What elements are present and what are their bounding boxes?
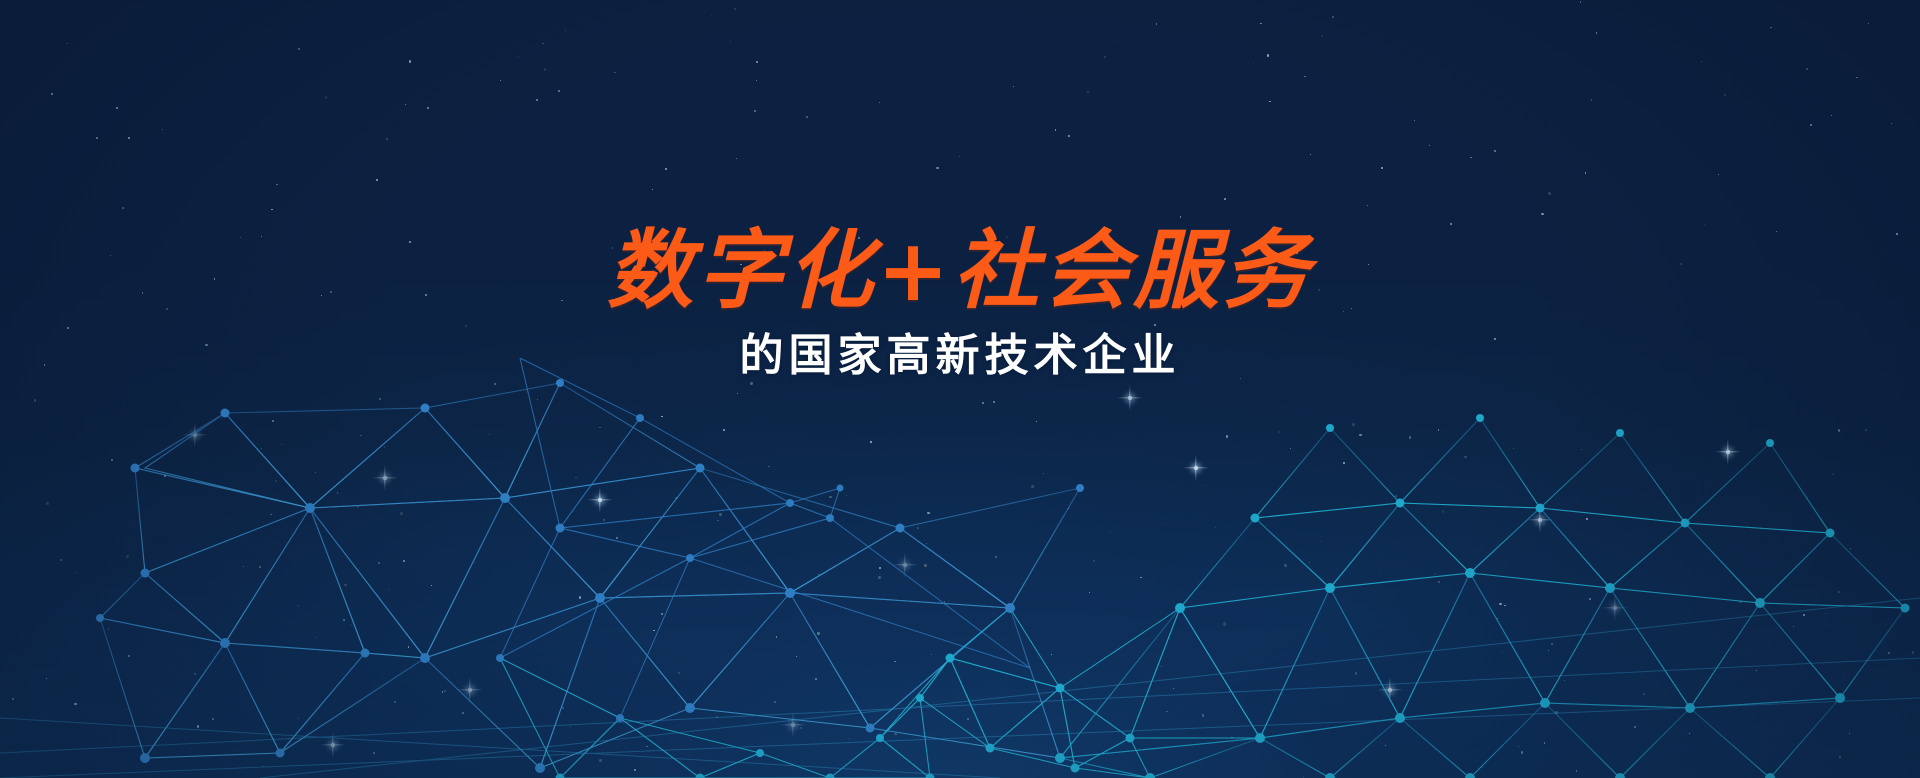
- star-dot: [96, 137, 98, 139]
- star-dot: [959, 156, 960, 157]
- star-dot: [756, 61, 758, 63]
- star-dot: [542, 43, 543, 44]
- page-title: 数字化+社会服务: [0, 228, 1920, 316]
- star-dot: [1381, 167, 1383, 169]
- star-dot: [558, 90, 560, 92]
- star-dot: [271, 209, 272, 210]
- star-dot: [734, 8, 736, 10]
- star-dot: [1260, 23, 1262, 25]
- star-dot: [1470, 157, 1472, 159]
- star-dot: [1891, 123, 1893, 125]
- star-dot: [1414, 120, 1415, 121]
- star-dot: [1585, 172, 1586, 173]
- star-dot: [1068, 135, 1070, 137]
- star-dot: [1591, 99, 1593, 101]
- star-dot: [67, 43, 68, 44]
- star-dot: [1596, 32, 1597, 33]
- star-dot: [1429, 145, 1430, 146]
- star-dot: [754, 110, 756, 112]
- star-dot: [298, 48, 300, 50]
- star-dot: [1180, 216, 1182, 218]
- star-dot: [427, 107, 429, 109]
- star-dot: [1541, 213, 1543, 215]
- star-dot: [1868, 23, 1869, 24]
- star-dot: [1104, 56, 1107, 59]
- star-dot: [1253, 63, 1254, 64]
- star-dot: [730, 41, 731, 42]
- star-dot: [518, 56, 519, 57]
- star-dot: [565, 30, 566, 31]
- star-dot: [1267, 54, 1270, 57]
- star-dot: [1114, 41, 1115, 42]
- star-dot: [376, 179, 378, 181]
- star-dot: [652, 189, 653, 190]
- star-dot: [1494, 150, 1496, 152]
- star-dot: [536, 99, 538, 101]
- star-dot: [1310, 154, 1311, 155]
- star-dot: [51, 93, 53, 95]
- star-dot: [1332, 16, 1334, 18]
- star-dot: [1367, 205, 1368, 206]
- star-dot: [1087, 91, 1089, 93]
- star-dot: [806, 116, 808, 118]
- star-dot: [409, 60, 411, 62]
- star-dot: [1770, 27, 1772, 29]
- star-dot: [879, 102, 880, 103]
- star-dot: [1156, 23, 1158, 25]
- star-dot: [1856, 77, 1858, 79]
- star-dot: [614, 72, 616, 74]
- star-dot: [1806, 68, 1808, 70]
- star-dot: [1304, 76, 1306, 78]
- star-dot: [1055, 129, 1057, 131]
- star-dot: [1321, 35, 1323, 37]
- star-dot: [276, 184, 277, 185]
- star-dot: [756, 80, 757, 81]
- star-dot: [665, 168, 667, 170]
- star-dot: [1450, 223, 1451, 224]
- star-dot: [1224, 198, 1226, 200]
- star-dot: [711, 15, 712, 16]
- star-dot: [544, 68, 546, 70]
- star-dot: [936, 167, 938, 169]
- star-dot: [1704, 224, 1705, 225]
- star-dot: [325, 96, 328, 99]
- star-dot: [1701, 61, 1702, 62]
- network-mesh-graphic: [0, 358, 1920, 778]
- star-dot: [1580, 1, 1581, 2]
- page-subtitle: 的国家高新技术企业: [0, 330, 1920, 383]
- hero-banner: 数字化+社会服务 的国家高新技术企业: [0, 0, 1920, 778]
- star-dot: [1831, 115, 1832, 116]
- star-dot: [128, 137, 130, 139]
- star-dot: [116, 107, 118, 109]
- star-dot: [386, 138, 388, 140]
- star-dot: [500, 80, 501, 81]
- star-dot: [1718, 174, 1719, 175]
- star-dot: [405, 104, 406, 105]
- star-dot: [1013, 86, 1014, 87]
- star-dot: [1269, 101, 1271, 103]
- star-dot: [1724, 94, 1726, 96]
- star-dot: [1548, 192, 1551, 195]
- star-dot: [736, 158, 737, 159]
- star-dot: [162, 129, 163, 130]
- hero-copy-block: 数字化+社会服务 的国家高新技术企业: [0, 228, 1920, 383]
- star-dot: [122, 207, 124, 209]
- star-dot: [1813, 76, 1814, 77]
- star-dot: [1810, 124, 1812, 126]
